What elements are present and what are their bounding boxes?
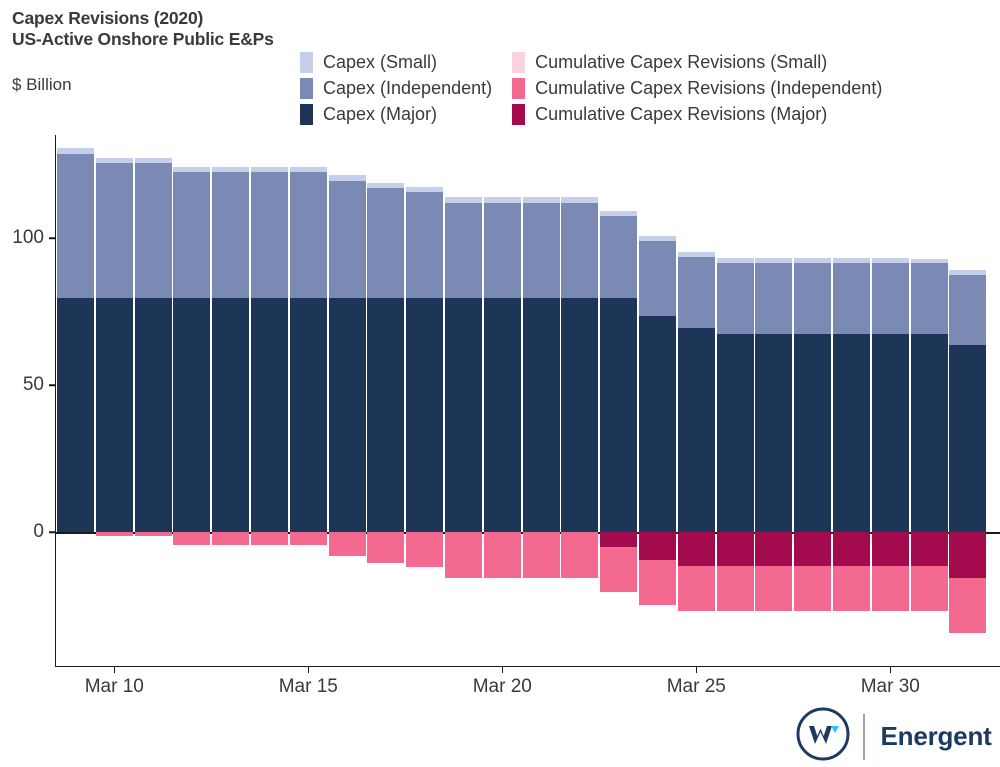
- bar-segment[interactable]: [949, 275, 986, 346]
- bar-segment[interactable]: [329, 532, 366, 556]
- x-tick-mark: [502, 666, 504, 673]
- x-tick-label: Mar 25: [667, 676, 726, 698]
- bar-segment[interactable]: [173, 532, 210, 545]
- x-tick-label: Mar 20: [473, 676, 532, 698]
- bar-segment[interactable]: [329, 175, 366, 180]
- bar-segment[interactable]: [445, 298, 482, 532]
- bar-segment[interactable]: [600, 216, 637, 298]
- bar-segment[interactable]: [445, 532, 482, 578]
- bar-segment[interactable]: [367, 183, 404, 188]
- bar-segment[interactable]: [523, 298, 560, 532]
- bar-segment[interactable]: [367, 188, 404, 298]
- bar-segment[interactable]: [135, 158, 172, 163]
- bar-segment[interactable]: [212, 532, 249, 545]
- bar-segment[interactable]: [911, 263, 948, 334]
- bar-segment[interactable]: [212, 298, 249, 532]
- x-tick-label: Mar 30: [861, 676, 920, 698]
- bar-segment[interactable]: [96, 298, 133, 532]
- bar-segment[interactable]: [639, 316, 676, 532]
- bar-segment[interactable]: [57, 154, 94, 298]
- bar-segment[interactable]: [833, 334, 870, 532]
- bar-segment[interactable]: [561, 298, 598, 532]
- y-tick-label: 50: [23, 374, 44, 396]
- x-tick-mark: [308, 666, 310, 673]
- bar-segment[interactable]: [212, 167, 249, 172]
- bar-segment[interactable]: [135, 532, 172, 536]
- bar-segment[interactable]: [794, 532, 831, 566]
- bar-segment[interactable]: [290, 532, 327, 545]
- y-tick-mark: [49, 384, 55, 386]
- bar-segment[interactable]: [639, 560, 676, 606]
- bar-segment[interactable]: [600, 532, 637, 547]
- bar-segment[interactable]: [717, 263, 754, 334]
- bar-segment[interactable]: [484, 532, 521, 578]
- bar-segment[interactable]: [911, 334, 948, 532]
- x-tick-mark: [114, 666, 116, 673]
- bar-segment[interactable]: [949, 578, 986, 634]
- bar-segment[interactable]: [600, 547, 637, 593]
- bar-segment[interactable]: [794, 258, 831, 263]
- bar-segment[interactable]: [173, 167, 210, 172]
- bar-segment[interactable]: [251, 167, 288, 172]
- bar-segment[interactable]: [911, 259, 948, 263]
- bar-segment[interactable]: [794, 334, 831, 532]
- y-tick-mark: [49, 531, 55, 533]
- bar-segment[interactable]: [173, 172, 210, 298]
- bar-segment[interactable]: [251, 298, 288, 532]
- y-tick-label: 100: [12, 227, 44, 249]
- brand-divider: [863, 714, 865, 760]
- bar-segment[interactable]: [329, 298, 366, 532]
- bar-segment[interactable]: [872, 566, 909, 612]
- bar-segment[interactable]: [445, 203, 482, 299]
- bar-segment[interactable]: [445, 197, 482, 202]
- bar-segment[interactable]: [406, 532, 443, 567]
- bar-segment[interactable]: [678, 566, 715, 612]
- bar-segment[interactable]: [949, 532, 986, 578]
- brand-name: Energent: [881, 721, 992, 752]
- bar-segment[interactable]: [639, 241, 676, 316]
- bar-segment[interactable]: [755, 334, 792, 532]
- bar-segment[interactable]: [561, 197, 598, 202]
- bar-segment[interactable]: [290, 167, 327, 172]
- bar-segment[interactable]: [173, 298, 210, 532]
- bar-segment[interactable]: [96, 158, 133, 163]
- chart-plot-area: 050100Mar 10Mar 15Mar 20Mar 25Mar 30: [0, 0, 1000, 767]
- energent-circle-logo-icon: [795, 706, 851, 767]
- x-axis-line: [55, 666, 1000, 667]
- bar-segment[interactable]: [135, 298, 172, 532]
- bar-segment[interactable]: [367, 298, 404, 532]
- bar-segment[interactable]: [212, 172, 249, 298]
- bar-segment[interactable]: [833, 258, 870, 263]
- bar-segment[interactable]: [911, 566, 948, 612]
- bar-segment[interactable]: [600, 298, 637, 532]
- bar-segment[interactable]: [639, 532, 676, 560]
- bar-segment[interactable]: [57, 298, 94, 532]
- bar-segment[interactable]: [561, 532, 598, 578]
- bar-segment[interactable]: [290, 298, 327, 532]
- bar-segment[interactable]: [717, 258, 754, 263]
- bar-segment[interactable]: [135, 163, 172, 298]
- bar-segment[interactable]: [523, 197, 560, 202]
- bar-segment[interactable]: [406, 298, 443, 532]
- bar-segment[interactable]: [949, 270, 986, 274]
- bar-segment[interactable]: [872, 258, 909, 263]
- x-tick-label: Mar 10: [85, 676, 144, 698]
- bar-segment[interactable]: [717, 566, 754, 612]
- bar-segment[interactable]: [523, 203, 560, 299]
- bar-segment[interactable]: [678, 532, 715, 566]
- bar-segment[interactable]: [949, 345, 986, 532]
- y-axis-line: [55, 135, 56, 667]
- bar-segment[interactable]: [755, 566, 792, 612]
- bar-segment[interactable]: [639, 236, 676, 241]
- bar-segment[interactable]: [678, 257, 715, 328]
- bar-segment[interactable]: [251, 532, 288, 545]
- bar-segment[interactable]: [872, 334, 909, 532]
- bar-segment[interactable]: [96, 532, 133, 536]
- bar-segment[interactable]: [96, 163, 133, 298]
- bar-segment[interactable]: [484, 203, 521, 299]
- bar-segment[interactable]: [251, 172, 288, 298]
- bar-segment[interactable]: [717, 334, 754, 532]
- bar-segment[interactable]: [755, 263, 792, 334]
- x-tick-mark: [696, 666, 698, 673]
- x-tick-mark: [890, 666, 892, 673]
- bar-segment[interactable]: [600, 211, 637, 216]
- bar-segment[interactable]: [717, 532, 754, 566]
- bar-segment[interactable]: [833, 532, 870, 566]
- bar-segment[interactable]: [561, 203, 598, 299]
- bar-segment[interactable]: [755, 258, 792, 263]
- bar-segment[interactable]: [329, 181, 366, 299]
- bar-segment[interactable]: [794, 566, 831, 612]
- bar-segment[interactable]: [833, 263, 870, 334]
- bar-segment[interactable]: [755, 532, 792, 566]
- bar-segment[interactable]: [57, 148, 94, 154]
- bar-segment[interactable]: [872, 532, 909, 566]
- bar-segment[interactable]: [367, 532, 404, 563]
- bar-segment[interactable]: [911, 532, 948, 566]
- bar-segment[interactable]: [523, 532, 560, 578]
- bar-segment[interactable]: [406, 192, 443, 298]
- bar-segment[interactable]: [484, 197, 521, 202]
- bar-segment[interactable]: [678, 328, 715, 532]
- x-tick-label: Mar 15: [279, 676, 338, 698]
- bar-segment[interactable]: [678, 252, 715, 257]
- y-tick-mark: [49, 237, 55, 239]
- bar-segment[interactable]: [794, 263, 831, 334]
- brand-logo-block: Energent: [795, 706, 992, 767]
- bar-segment[interactable]: [406, 187, 443, 192]
- bar-segment[interactable]: [290, 172, 327, 298]
- y-tick-label: 0: [33, 521, 44, 543]
- bar-segment[interactable]: [872, 263, 909, 334]
- bar-segment[interactable]: [484, 298, 521, 532]
- bar-segment[interactable]: [833, 566, 870, 612]
